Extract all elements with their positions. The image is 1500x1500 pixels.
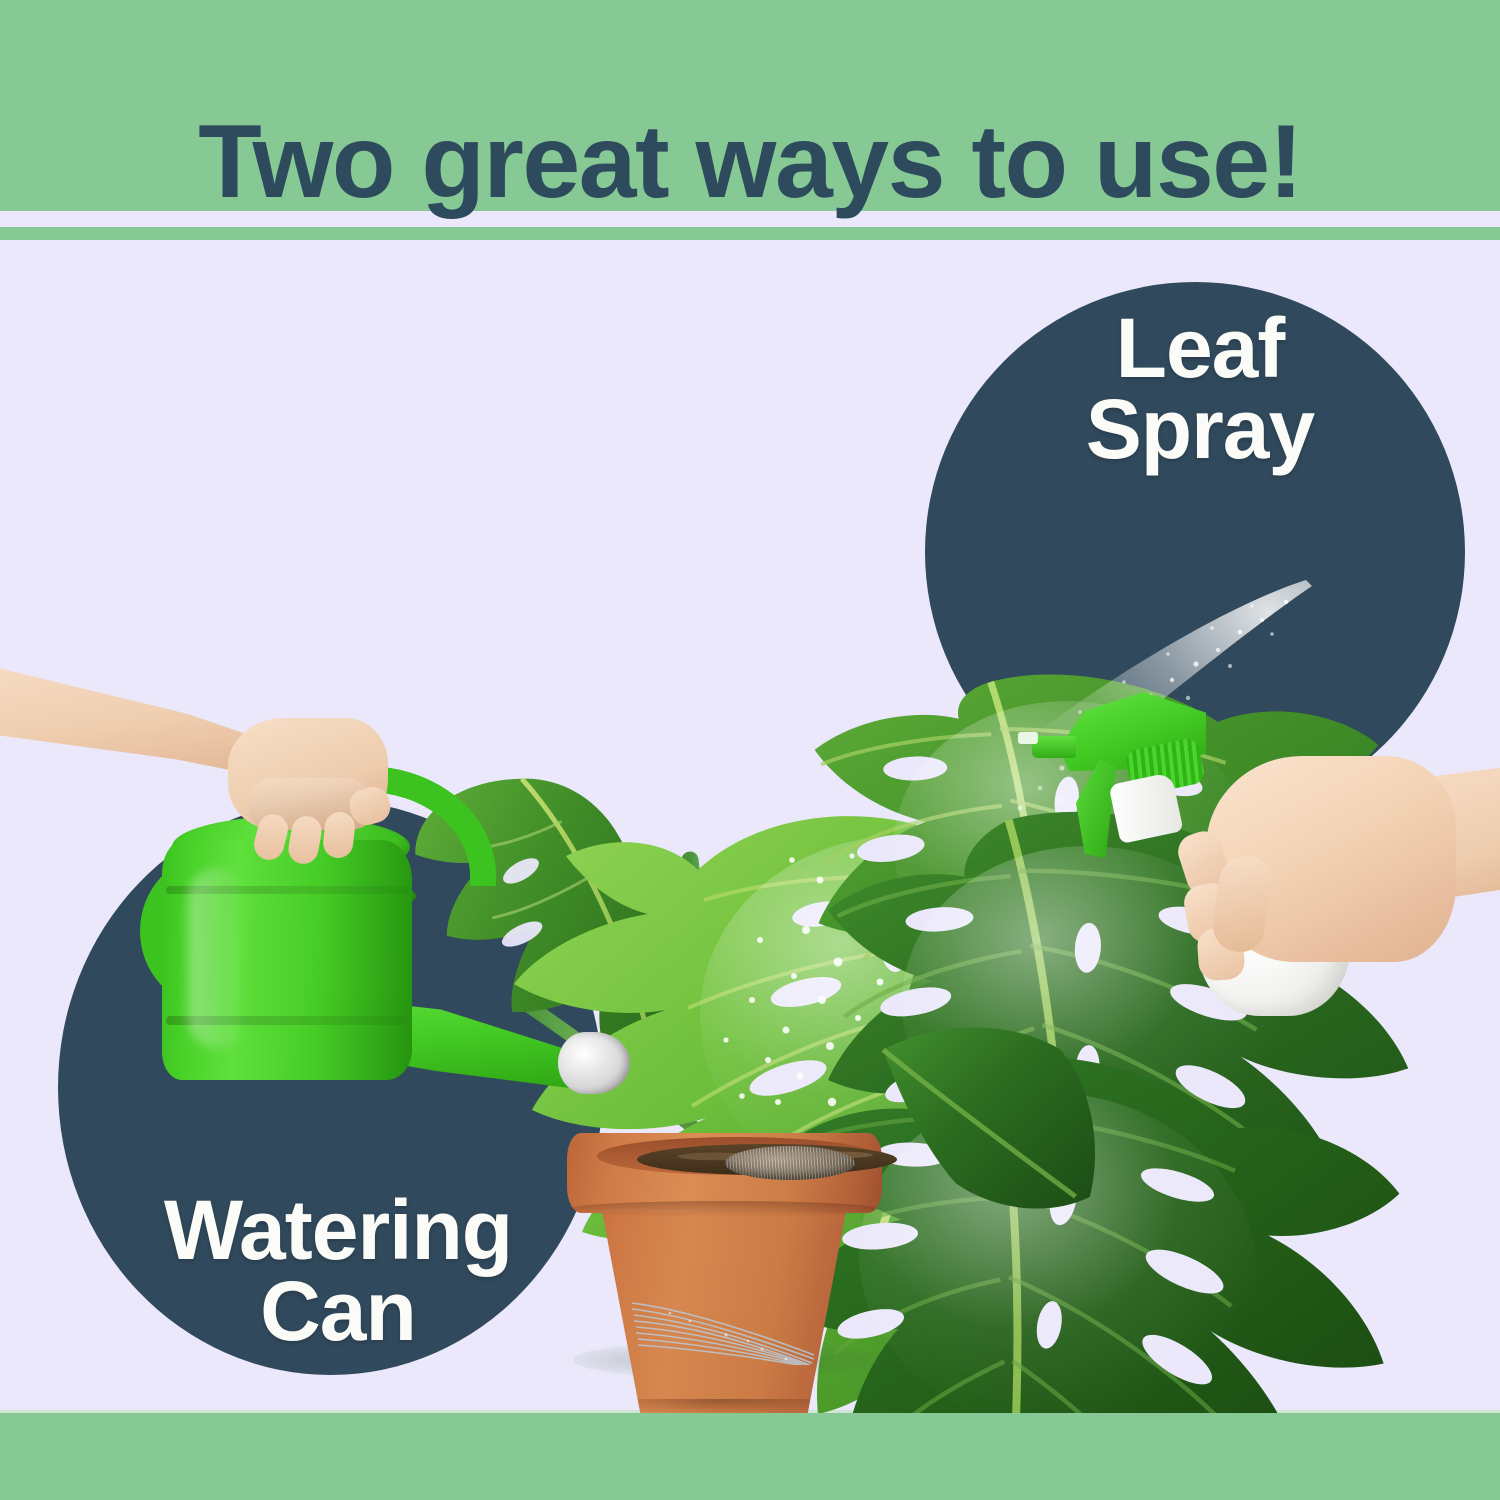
left-hand-holding-watering-can <box>0 638 410 838</box>
spray-nozzle <box>1032 736 1076 758</box>
can-nozzle <box>558 1032 630 1094</box>
watering-can-label-line2: Can <box>118 1271 558 1352</box>
scene: Leaf Spray Watering Can <box>0 240 1500 1413</box>
leaf-spray-label-line1: Leaf <box>1010 308 1390 389</box>
bottom-green-band <box>0 1413 1500 1500</box>
watering-can-label: Watering Can <box>118 1190 558 1353</box>
spray-tip-icon <box>1018 732 1038 744</box>
accent-green-stripe <box>0 227 1500 240</box>
product-infographic: Leaf Spray Watering Can Two great ways t… <box>0 0 1500 1500</box>
pot-soil <box>637 1144 897 1175</box>
trunk-texture <box>725 1146 855 1180</box>
spray-bottle-and-hand <box>1010 460 1500 1020</box>
plant-trunk-base <box>725 1146 855 1180</box>
pot-rim-shadow <box>569 1201 879 1217</box>
water-stream-icon <box>630 1293 820 1365</box>
page-title: Two great ways to use! <box>0 110 1500 214</box>
watering-can-label-line1: Watering <box>118 1190 558 1271</box>
spray-trigger-lever <box>1076 760 1116 858</box>
bottle-neck <box>1108 772 1183 844</box>
leaf-spray-label: Leaf Spray <box>1010 308 1390 471</box>
leaf-spray-label-line2: Spray <box>1010 389 1390 470</box>
can-highlight <box>188 868 248 1048</box>
